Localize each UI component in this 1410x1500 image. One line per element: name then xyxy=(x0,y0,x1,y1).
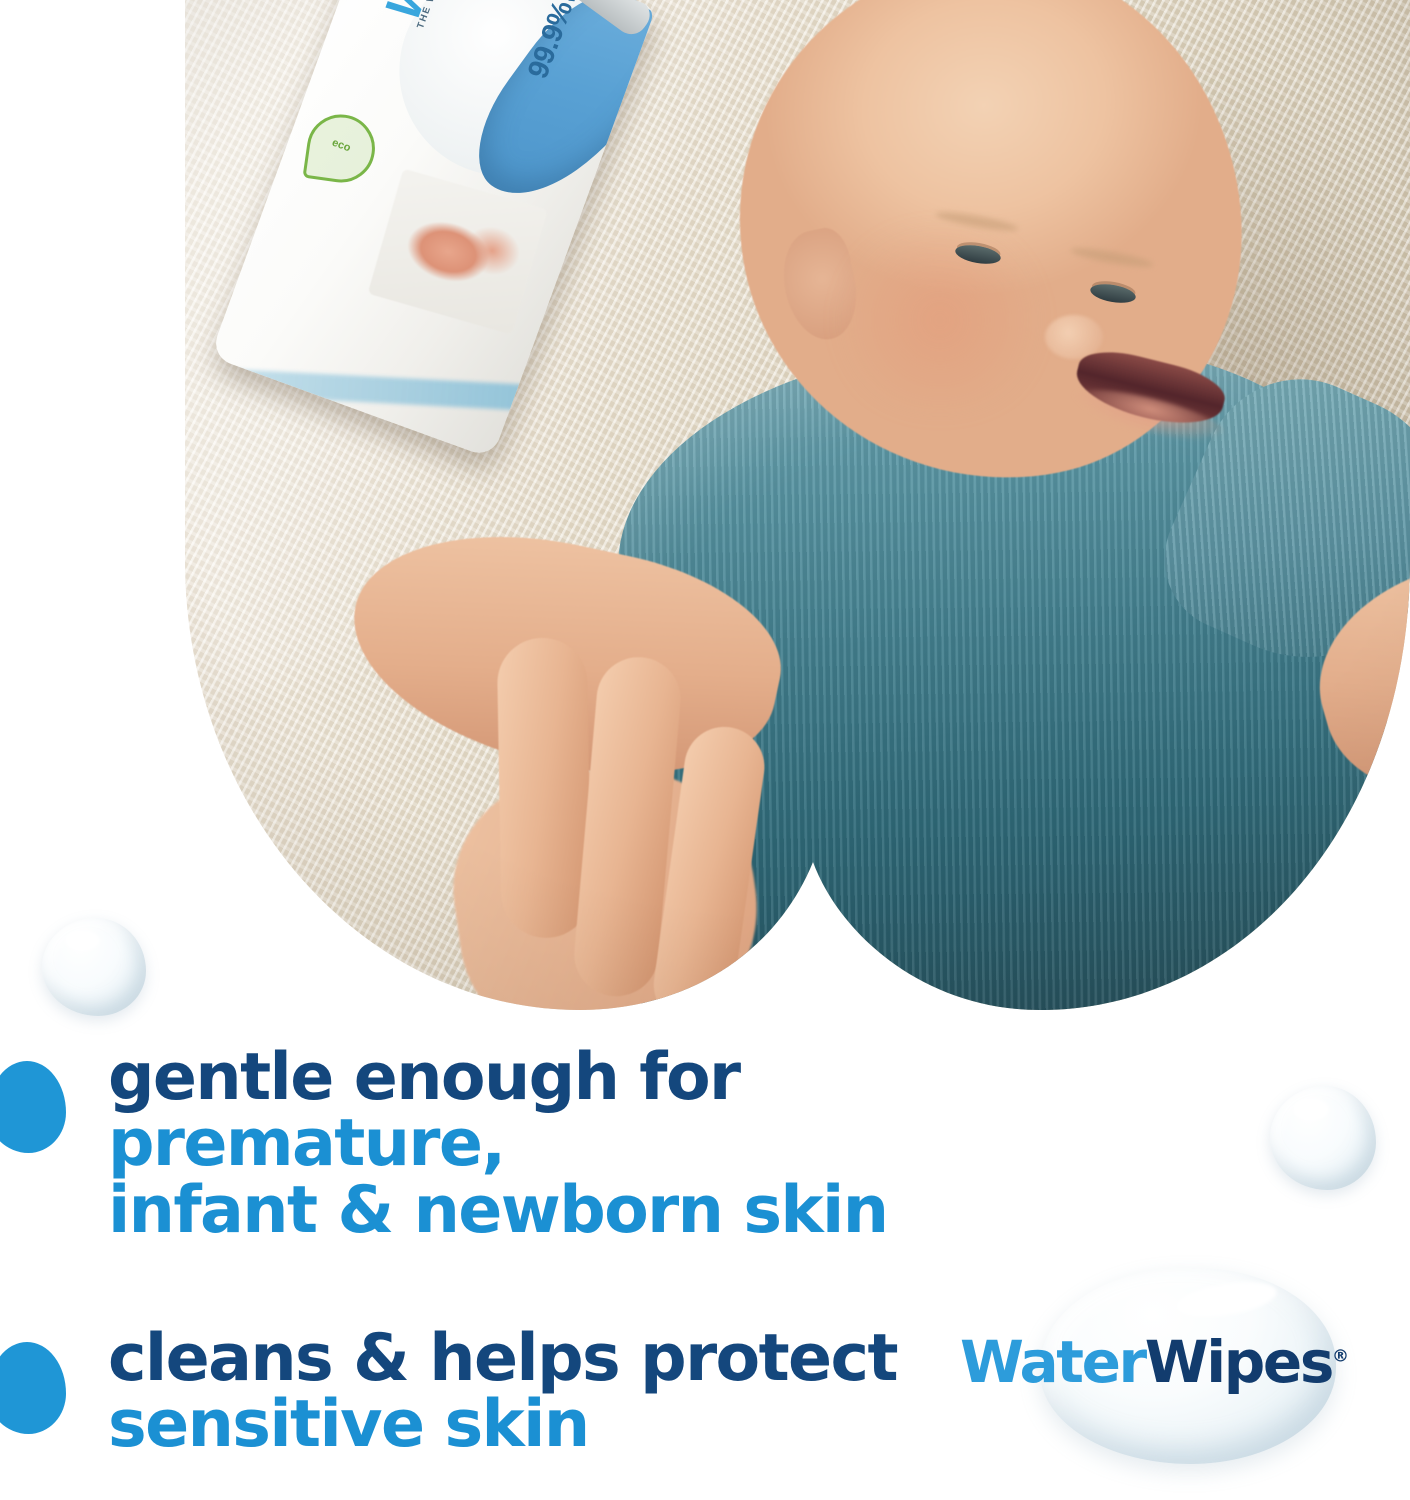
adult-hand xyxy=(438,583,912,1010)
water-droplet-icon xyxy=(1270,1086,1376,1190)
water-droplet-icon xyxy=(42,918,146,1016)
product-feature-page: WaterWipes THE WORLD'S PUREST BABY WIPES… xyxy=(0,0,1410,1500)
logo-water-text: Water xyxy=(960,1328,1145,1396)
benefits-list: gentle enough for premature, infant & ne… xyxy=(0,1045,1000,1500)
registered-trademark-symbol: ® xyxy=(1332,1347,1349,1367)
waterwipes-logo: WaterWipes® xyxy=(960,1250,1390,1490)
baby-cheek xyxy=(825,230,1055,410)
benefit-item: gentle enough for premature, infant & ne… xyxy=(0,1045,1000,1244)
pack-newborn-photo xyxy=(368,168,548,334)
benefit-text-line2: sensitive skin xyxy=(108,1387,589,1462)
eco-badge-label: eco xyxy=(310,129,372,161)
eco-badge-icon: eco xyxy=(303,110,380,187)
benefit-text: cleans & helps protect sensitive skin xyxy=(0,1326,1000,1459)
benefit-text-dark: gentle enough for xyxy=(108,1040,739,1115)
benefit-text: gentle enough for premature, infant & ne… xyxy=(0,1045,1000,1244)
hero-photo: WaterWipes THE WORLD'S PUREST BABY WIPES… xyxy=(185,0,1410,1010)
benefit-text-highlight: premature, xyxy=(108,1106,504,1181)
logo-wordmark: WaterWipes® xyxy=(960,1328,1390,1396)
hand-finger xyxy=(497,637,592,939)
benefit-text-line2: infant & newborn skin xyxy=(108,1173,887,1248)
logo-wipes-text: Wipes xyxy=(1145,1328,1332,1396)
benefit-item: cleans & helps protect sensitive skin xyxy=(0,1326,1000,1459)
lifestyle-photo: WaterWipes THE WORLD'S PUREST BABY WIPES… xyxy=(185,0,1410,1010)
benefit-text-dark: cleans & helps protect xyxy=(108,1321,897,1396)
